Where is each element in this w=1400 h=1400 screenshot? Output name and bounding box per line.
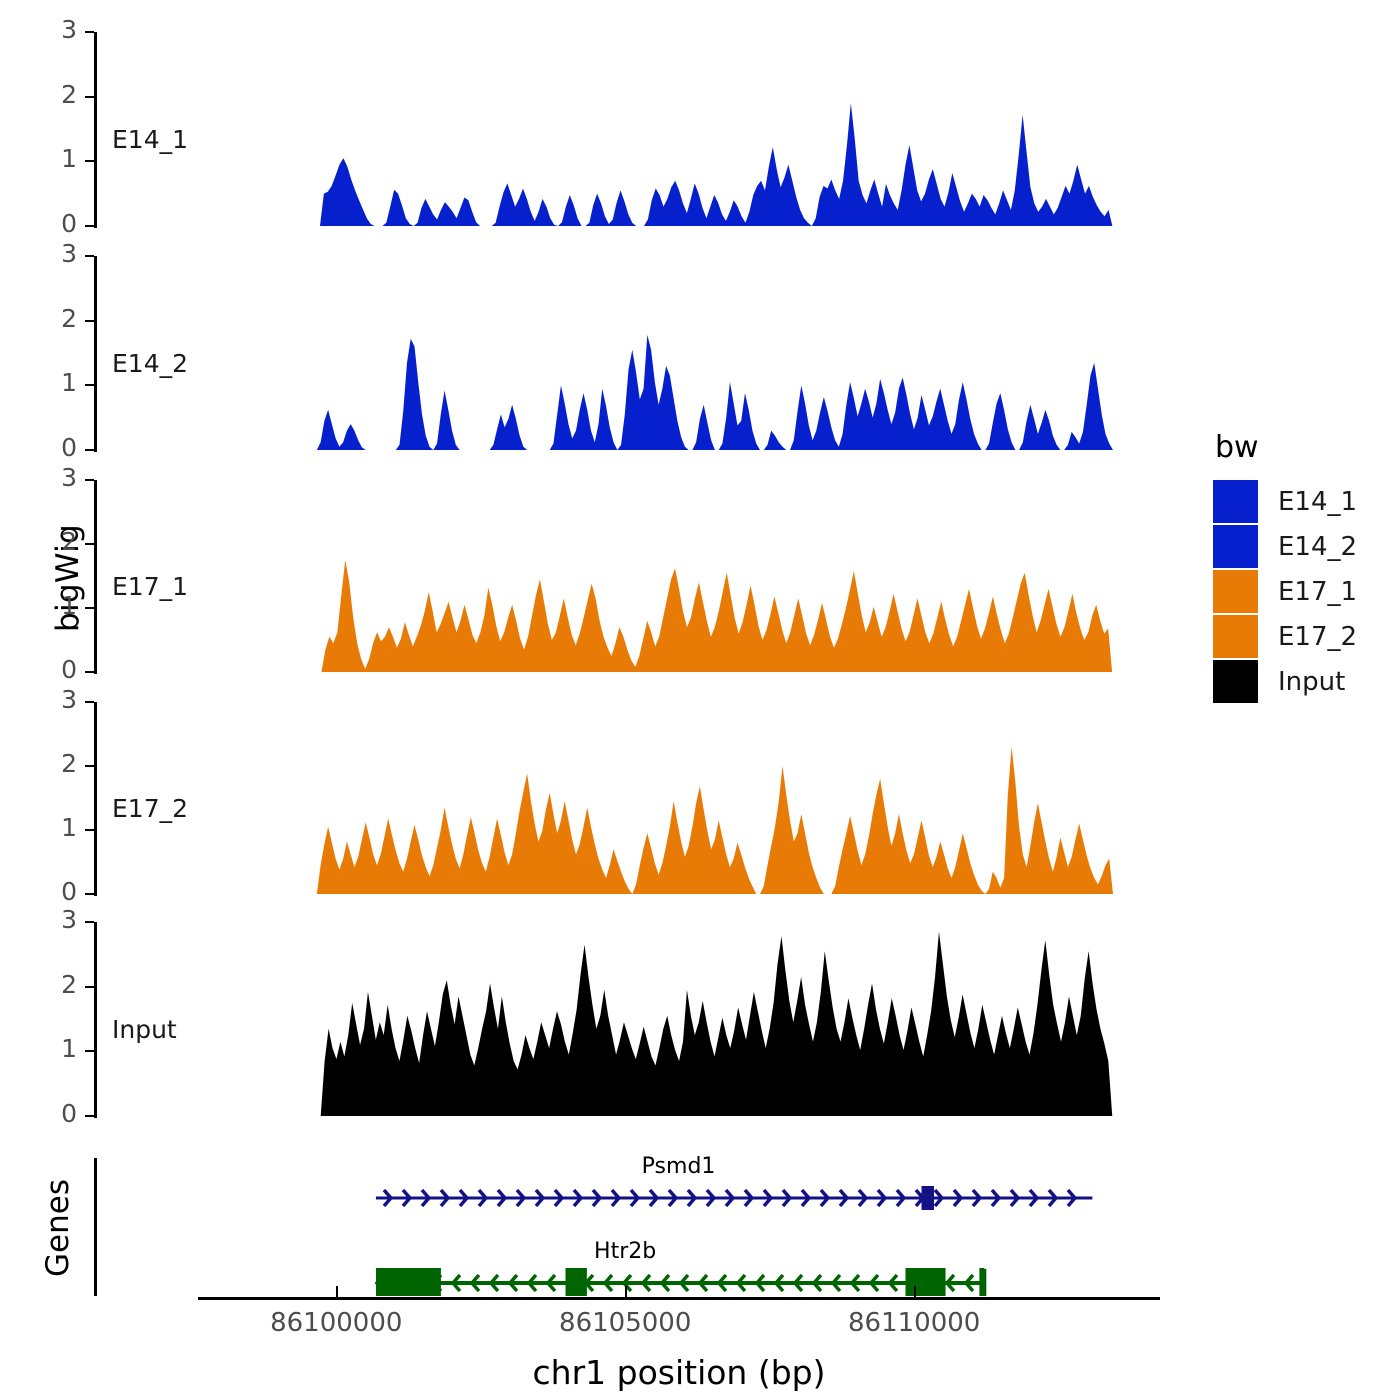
- legend-item-e14_1[interactable]: E14_1: [1213, 479, 1357, 524]
- track-label-input: Input: [112, 1015, 177, 1044]
- signal-wave-e14_1: [238, 32, 1128, 227]
- legend-swatch-icon: [1213, 615, 1258, 658]
- signal-wave-input: [238, 922, 1128, 1117]
- y-tick: [85, 31, 94, 33]
- y-axis-spine-e17_1: [94, 480, 97, 674]
- x-tick: [336, 1286, 338, 1297]
- y-tick-label: 1: [19, 1036, 77, 1061]
- y-axis-title-genes: Genes: [40, 1148, 76, 1308]
- y-axis-spine-e17_2: [94, 702, 97, 896]
- y-tick: [85, 671, 94, 673]
- y-tick-label: 2: [19, 82, 77, 107]
- signal-wave-e17_1: [238, 480, 1128, 673]
- legend-item-label: E14_1: [1278, 487, 1357, 517]
- y-axis-spine-input: [94, 922, 97, 1118]
- y-tick: [85, 384, 94, 386]
- y-tick: [85, 765, 94, 767]
- genes-axis-spine: [94, 1158, 97, 1296]
- y-tick-label: 3: [19, 907, 77, 932]
- gene-psmd1[interactable]: [376, 1186, 1092, 1210]
- legend-item-label: E17_2: [1278, 622, 1357, 652]
- legend-item-label: Input: [1278, 667, 1345, 697]
- x-tick-label: 86100000: [226, 1308, 446, 1338]
- y-tick-label: 3: [19, 465, 77, 490]
- gene-exon: [376, 1268, 441, 1296]
- y-tick-label: 0: [19, 211, 77, 236]
- gene-exon: [566, 1268, 587, 1296]
- legend-item-input[interactable]: Input: [1213, 659, 1357, 704]
- track-label-e14_2: E14_2: [112, 349, 188, 378]
- signal-wave-e14_2: [238, 256, 1128, 451]
- legend-swatch-icon: [1213, 570, 1258, 613]
- y-tick-label: 0: [19, 657, 77, 682]
- y-tick: [85, 543, 94, 545]
- gene-models-svg: [238, 1158, 1148, 1296]
- y-tick-label: 2: [19, 751, 77, 776]
- y-tick: [85, 701, 94, 703]
- track-label-e14_1: E14_1: [112, 125, 188, 154]
- x-tick: [625, 1286, 627, 1297]
- y-tick-label: 3: [19, 17, 77, 42]
- y-tick-label: 1: [19, 593, 77, 618]
- x-tick-label: 86105000: [515, 1308, 735, 1338]
- y-tick: [85, 893, 94, 895]
- x-tick-label: 86110000: [804, 1308, 1024, 1338]
- y-tick: [85, 829, 94, 831]
- legend-items: E14_1E14_2E17_1E17_2Input: [1213, 479, 1357, 704]
- y-tick-label: 1: [19, 815, 77, 840]
- x-tick: [914, 1286, 916, 1297]
- track-label-e17_2: E17_2: [112, 794, 188, 823]
- y-tick: [85, 479, 94, 481]
- genome-browser-figure: bigWig Genes 0123E14_10123E14_20123E17_1…: [0, 0, 1400, 1400]
- y-tick: [85, 986, 94, 988]
- legend-swatch-icon: [1213, 480, 1258, 523]
- legend-item-label: E14_2: [1278, 532, 1357, 562]
- y-tick: [85, 320, 94, 322]
- legend-item-e17_1[interactable]: E17_1: [1213, 569, 1357, 614]
- y-tick: [85, 449, 94, 451]
- x-axis-line: [198, 1297, 1160, 1300]
- y-tick: [85, 921, 94, 923]
- y-tick-label: 3: [19, 241, 77, 266]
- legend: bw E14_1E14_2E17_1E17_2Input: [1213, 430, 1357, 704]
- y-tick-label: 2: [19, 306, 77, 331]
- y-tick: [85, 255, 94, 257]
- legend-item-e14_2[interactable]: E14_2: [1213, 524, 1357, 569]
- gene-exon: [922, 1186, 934, 1210]
- legend-item-e17_2[interactable]: E17_2: [1213, 614, 1357, 659]
- y-axis-title-bigwig: bigWig: [50, 498, 86, 658]
- y-axis-spine-e14_2: [94, 256, 97, 452]
- y-tick-label: 0: [19, 879, 77, 904]
- y-tick: [85, 1050, 94, 1052]
- y-tick: [85, 225, 94, 227]
- y-axis-spine-e14_1: [94, 32, 97, 228]
- y-tick: [85, 96, 94, 98]
- y-tick-label: 0: [19, 1101, 77, 1126]
- signal-wave-e17_2: [238, 702, 1128, 895]
- legend-title: bw: [1215, 430, 1357, 465]
- y-tick-label: 1: [19, 370, 77, 395]
- y-tick: [85, 1115, 94, 1117]
- gene-htr2b[interactable]: [376, 1268, 984, 1296]
- legend-swatch-icon: [1213, 660, 1258, 703]
- y-tick-label: 1: [19, 146, 77, 171]
- track-label-e17_1: E17_1: [112, 572, 188, 601]
- y-tick-label: 2: [19, 529, 77, 554]
- legend-item-label: E17_1: [1278, 577, 1357, 607]
- y-tick-label: 3: [19, 687, 77, 712]
- gene-exon: [906, 1268, 946, 1296]
- y-tick: [85, 607, 94, 609]
- y-tick-label: 2: [19, 972, 77, 997]
- legend-swatch-icon: [1213, 525, 1258, 568]
- x-axis-title: chr1 position (bp): [198, 1353, 1160, 1392]
- y-tick: [85, 160, 94, 162]
- y-tick-label: 0: [19, 435, 77, 460]
